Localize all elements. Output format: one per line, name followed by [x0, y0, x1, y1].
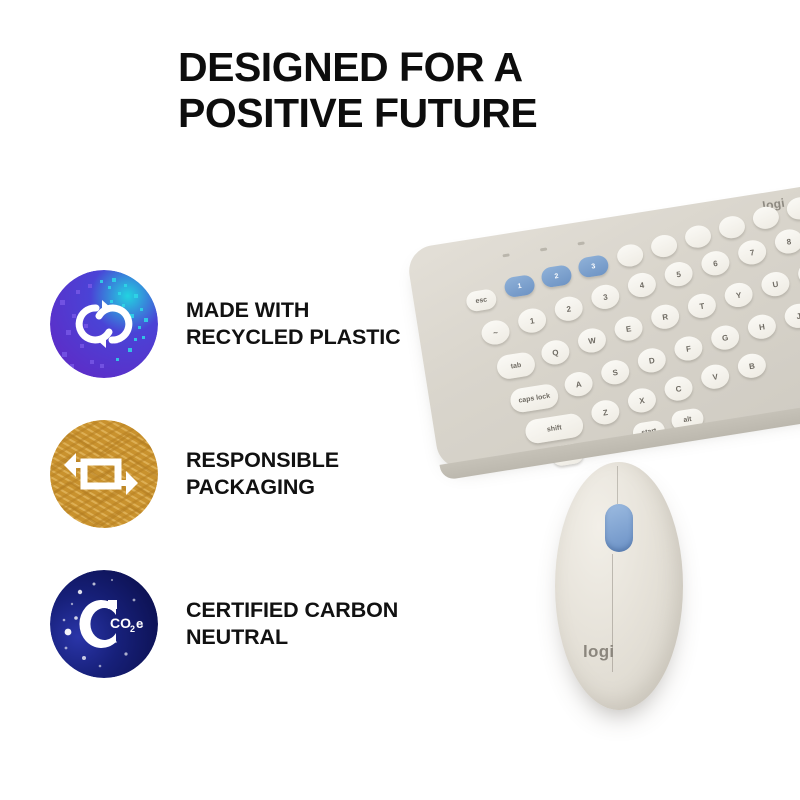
- product-photo: logi esc123~123456789tabQWERTYUIcaps loc…: [415, 230, 800, 730]
- feature-label-line-1: CERTIFIED CARBON: [186, 597, 398, 624]
- keyboard-key-e[interactable]: E: [613, 315, 644, 343]
- keyboard-led-3: [577, 241, 584, 245]
- feature-label-recycled-plastic: MADE WITH RECYCLED PLASTIC: [186, 297, 401, 351]
- keyboard-body: logi esc123~123456789tabQWERTYUIcaps loc…: [405, 182, 800, 471]
- keyboard-key-w[interactable]: W: [576, 326, 607, 354]
- keyboard-key-u[interactable]: U: [760, 270, 791, 298]
- keyboard-key-shift[interactable]: shift: [524, 412, 585, 445]
- keyboard-keys: esc123~123456789tabQWERTYUIcaps lockASDF…: [405, 182, 800, 249]
- mouse: logi: [555, 462, 683, 710]
- keyboard-key-5[interactable]: 5: [663, 260, 694, 288]
- carbon-neutral-icon: CO 2 e: [50, 570, 158, 678]
- feature-label-line-2: PACKAGING: [186, 474, 339, 501]
- keyboard-key-a[interactable]: A: [563, 370, 594, 398]
- mouse-brand-logo: logi: [583, 642, 614, 662]
- keyboard-key-s[interactable]: S: [600, 358, 631, 386]
- feature-label-line-1: RESPONSIBLE: [186, 447, 339, 474]
- keyboard-led-2: [540, 247, 547, 251]
- keyboard-key-b[interactable]: B: [736, 352, 767, 380]
- mouse-body: [555, 462, 683, 710]
- keyboard-key-2[interactable]: 2: [540, 264, 573, 288]
- feature-label-line-2: RECYCLED PLASTIC: [186, 324, 401, 351]
- keyboard-key-7[interactable]: 7: [736, 238, 767, 266]
- keyboard-key-q[interactable]: Q: [540, 338, 571, 366]
- keyboard-key-fn-6[interactable]: [683, 224, 712, 250]
- keyboard-key-c[interactable]: C: [663, 374, 694, 402]
- recycled-plastic-icon: [50, 270, 158, 378]
- keyboard-key-g[interactable]: G: [709, 324, 740, 352]
- feature-label-line-2: NEUTRAL: [186, 624, 398, 651]
- keyboard-key-3[interactable]: 3: [577, 254, 610, 278]
- keyboard-key-esc[interactable]: esc: [465, 288, 498, 312]
- keyboard-key-fn-7[interactable]: [717, 214, 746, 240]
- keyboard-key-v[interactable]: V: [699, 363, 730, 391]
- keyboard-key-x[interactable]: X: [626, 386, 657, 414]
- keyboard-key-tab[interactable]: tab: [495, 351, 536, 381]
- feature-label-responsible-packaging: RESPONSIBLE PACKAGING: [186, 447, 339, 501]
- keyboard-key-2[interactable]: 2: [553, 295, 584, 323]
- keyboard-key-~[interactable]: ~: [480, 318, 511, 346]
- keyboard-key-z[interactable]: Z: [590, 398, 621, 426]
- keyboard-key-r[interactable]: R: [649, 303, 680, 331]
- page-title: DESIGNED FOR A POSITIVE FUTURE: [178, 45, 738, 137]
- mouse-scroll-wheel: [605, 504, 633, 552]
- keyboard-key-d[interactable]: D: [636, 346, 667, 374]
- keyboard-key-fn-5[interactable]: [650, 233, 679, 259]
- keyboard-key-1[interactable]: 1: [503, 274, 536, 298]
- marketing-image: DESIGNED FOR A POSITIVE FUTURE: [0, 0, 800, 800]
- feature-label-line-1: MADE WITH: [186, 297, 401, 324]
- keyboard-key-t[interactable]: T: [686, 292, 717, 320]
- keyboard-key-start[interactable]: start: [632, 419, 667, 444]
- sustainability-feature-list: MADE WITH RECYCLED PLASTIC: [50, 268, 450, 718]
- keyboard-key-caps-lock[interactable]: caps lock: [509, 383, 560, 414]
- keyboard-key-y[interactable]: Y: [723, 281, 754, 309]
- mouse-top-seam: [617, 466, 618, 504]
- keyboard-key-fn-9[interactable]: [785, 195, 800, 221]
- keyboard-key-i[interactable]: I: [796, 259, 800, 287]
- keyboard-key-f[interactable]: F: [673, 334, 704, 362]
- keyboard-led-1: [502, 253, 509, 257]
- keyboard-key-3[interactable]: 3: [590, 283, 621, 311]
- keyboard-key-h[interactable]: H: [746, 313, 777, 341]
- keyboard-key-6[interactable]: 6: [700, 249, 731, 277]
- feature-item-recycled-plastic: MADE WITH RECYCLED PLASTIC: [50, 268, 450, 380]
- keyboard: logi esc123~123456789tabQWERTYUIcaps loc…: [405, 182, 800, 496]
- keyboard-key-alt[interactable]: alt: [670, 407, 705, 432]
- svg-text:e: e: [136, 616, 143, 631]
- svg-text:2: 2: [130, 624, 135, 634]
- keyboard-key-1[interactable]: 1: [516, 307, 547, 335]
- headline-line-2: POSITIVE FUTURE: [178, 91, 738, 137]
- svg-text:CO: CO: [110, 615, 131, 631]
- keyboard-key-fn-4[interactable]: [616, 243, 645, 269]
- responsible-packaging-icon: [50, 420, 158, 528]
- headline-line-1: DESIGNED FOR A: [178, 45, 738, 91]
- feature-item-responsible-packaging: RESPONSIBLE PACKAGING: [50, 418, 450, 530]
- feature-item-carbon-neutral: CO 2 e CERTIFIED CARBON NEUTRAL: [50, 568, 450, 680]
- keyboard-key-j[interactable]: J: [783, 302, 800, 330]
- keyboard-key-4[interactable]: 4: [626, 271, 657, 299]
- feature-label-carbon-neutral: CERTIFIED CARBON NEUTRAL: [186, 597, 398, 651]
- keyboard-key-8[interactable]: 8: [773, 227, 800, 255]
